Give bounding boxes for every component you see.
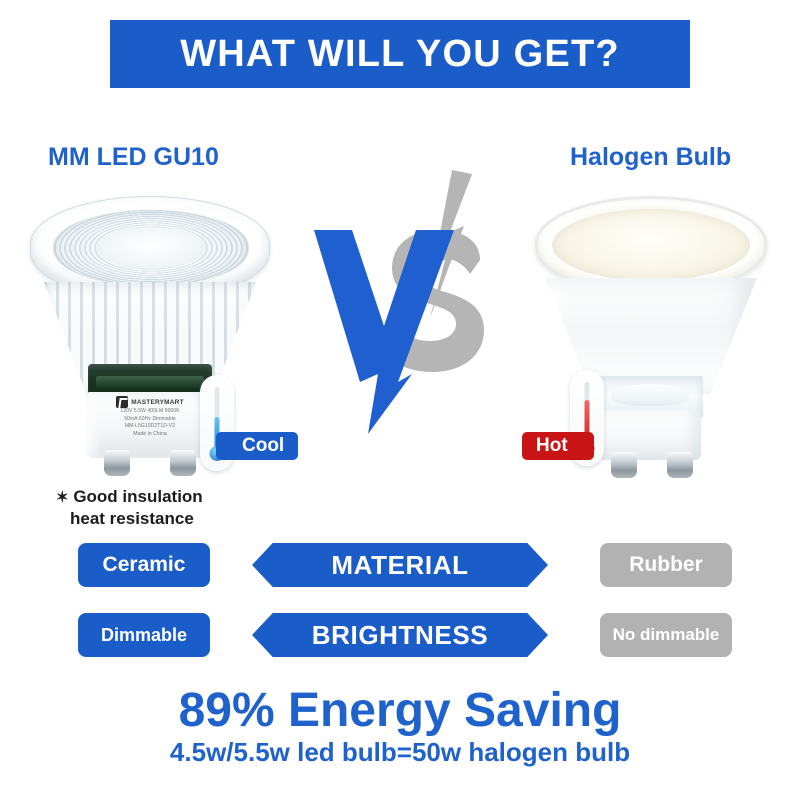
header-banner: WHAT WILL YOU GET? [110,20,690,88]
led-reflector-core [97,227,205,269]
versus-svg [312,168,492,436]
material-right-value: Rubber [600,543,732,587]
led-spec-line-2: 50mA 60Hz Dimmable [88,416,212,424]
brightness-left-value: Dimmable [78,613,210,657]
versus-graphic [312,168,492,436]
material-center-banner: MATERIAL [252,543,548,587]
page-title: WHAT WILL YOU GET? [180,33,620,76]
masterymart-logo-icon [116,396,128,408]
insulation-note: ✶ Good insulation heat resistance [56,486,203,529]
led-gu10-pin-left [104,450,130,476]
energy-saving-subline: 4.5w/5.5w led bulb=50w halogen bulb [0,737,800,768]
star-icon: ✶ [56,489,69,506]
led-brand-name: MASTERYMART [131,399,184,406]
brightness-right-value: No dimmable [600,613,732,657]
material-left-value: Ceramic [78,543,210,587]
halogen-gu10-pin-left [611,452,637,478]
led-gu10-pin-right [170,450,196,476]
comparison-row-material: Ceramic MATERIAL Rubber [0,543,800,587]
led-printed-label: MASTERYMART 120V 5.5W 400LM 5000K 50mA 6… [88,396,212,438]
energy-saving-headline: 89% Energy Saving [0,683,800,738]
versus-letter-v [314,230,454,434]
halogen-product-label: Halogen Bulb [570,143,731,172]
insulation-note-text-1: Good insulation [73,487,202,506]
led-product-label: MM LED GU10 [48,143,219,172]
comparison-row-brightness: Dimmable BRIGHTNESS No dimmable [0,613,800,657]
insulation-note-line-2: heat resistance [56,508,203,529]
led-spec-line-1: 120V 5.5W 400LM 5000K [88,408,212,416]
insulation-note-line-1: ✶ Good insulation [56,486,203,508]
led-spec-line-3: MM-L5G10D2T1D-V2 [88,423,212,431]
hot-badge: Hot [522,432,594,460]
brightness-center-banner: BRIGHTNESS [252,613,548,657]
cool-badge: Cool [216,432,298,460]
led-spec-line-4: Made in China [88,431,212,439]
led-brand-line: MASTERYMART [88,396,212,408]
halogen-gu10-pin-right [667,452,693,478]
